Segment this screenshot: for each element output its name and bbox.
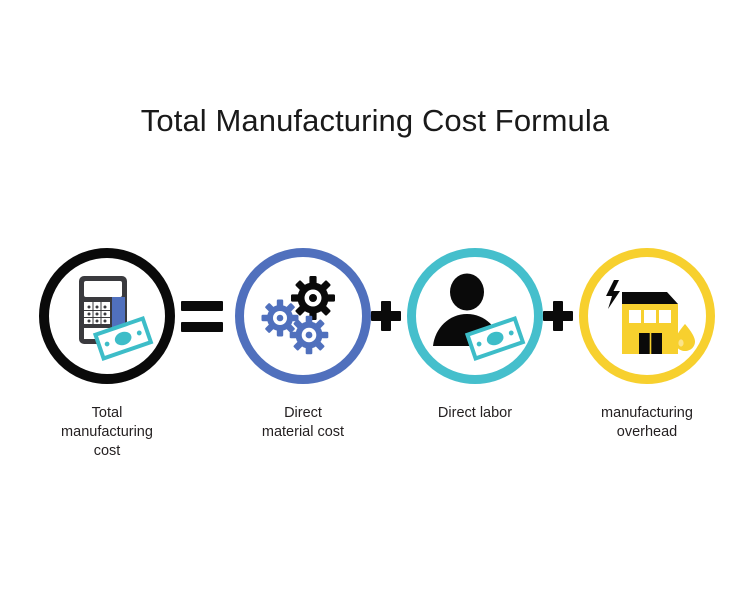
gear-black — [291, 276, 335, 320]
factory-utilities-svg — [595, 264, 699, 368]
person-money-svg — [423, 264, 527, 368]
lightning-bolt — [606, 280, 620, 309]
label-total-manufacturing-cost: Total manufacturing cost — [27, 404, 187, 461]
term-total-manufacturing-cost[interactable] — [39, 248, 175, 384]
calculator-money-icon — [39, 248, 175, 384]
gears-svg — [253, 266, 353, 366]
operator-plus-2 — [535, 248, 581, 384]
operator-equals — [171, 248, 233, 384]
page-title: Total Manufacturing Cost Formula — [0, 103, 750, 139]
infographic-canvas: Total Manufacturing Cost Formula — [0, 0, 750, 600]
factory-utilities-icon — [579, 248, 715, 384]
plus-icon — [371, 301, 401, 331]
gears-icon — [235, 248, 371, 384]
label-manufacturing-overhead: manufacturing overhead — [567, 404, 727, 442]
person-money-icon — [407, 248, 543, 384]
labels-row: Total manufacturing cost Direct material… — [0, 404, 750, 484]
gear-blue-bottom — [290, 316, 329, 355]
equals-icon — [181, 301, 223, 332]
factory-building — [622, 292, 678, 354]
calculator-money-svg — [55, 264, 159, 368]
term-direct-labor[interactable] — [407, 248, 543, 384]
term-direct-material-cost[interactable] — [235, 248, 371, 384]
term-manufacturing-overhead[interactable] — [579, 248, 715, 384]
label-direct-labor: Direct labor — [397, 404, 553, 423]
plus-icon — [543, 301, 573, 331]
formula-row — [0, 248, 750, 393]
operator-plus-1 — [363, 248, 409, 384]
label-direct-material-cost: Direct material cost — [225, 404, 381, 442]
gear-blue-left — [262, 300, 299, 337]
